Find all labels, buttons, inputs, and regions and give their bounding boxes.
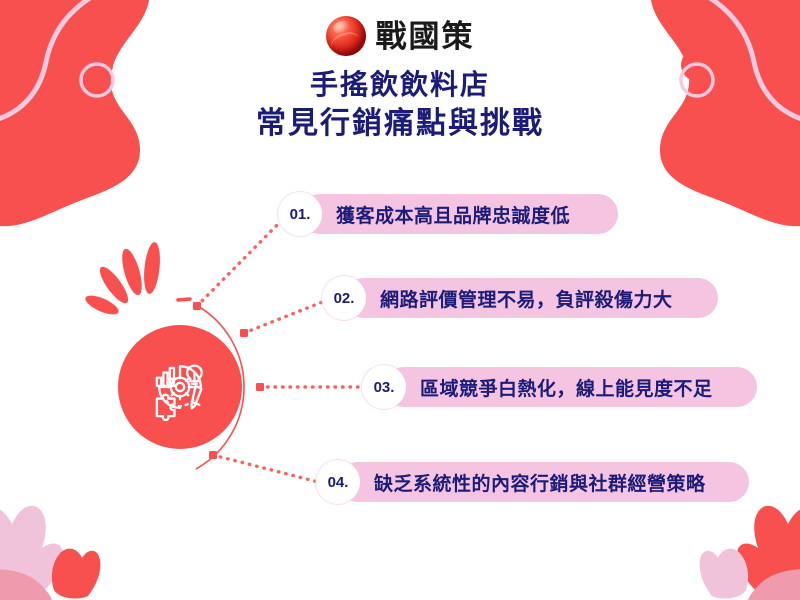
pain-point-row-2[interactable]: 02. 網路評價管理不易，負評殺傷力大 bbox=[322, 278, 673, 318]
petal-coral-large-r bbox=[737, 506, 800, 600]
item-number-badge-4: 04. bbox=[316, 460, 360, 504]
page-title: 手搖飲飲料店 常見行銷痛點與挑戰 bbox=[0, 66, 800, 144]
left-burst-dash bbox=[178, 299, 190, 300]
left-ray-burst bbox=[83, 241, 162, 318]
petal-rose-flat bbox=[0, 569, 52, 600]
connector-line-1 bbox=[197, 216, 286, 306]
connector-line-2 bbox=[244, 299, 330, 333]
item-number-badge-2: 02. bbox=[322, 276, 366, 320]
red-sphere-logo-icon bbox=[326, 16, 366, 56]
arc-node-2 bbox=[240, 329, 248, 337]
pain-point-row-1[interactable]: 01. 獲客成本高且品牌忠誠度低 bbox=[278, 194, 570, 234]
pain-point-row-3[interactable]: 03. 區域競爭白熱化，線上能見度不足 bbox=[362, 367, 713, 407]
brand-name: 戰國策 bbox=[376, 21, 475, 52]
marketing-strategy-icon bbox=[143, 350, 217, 424]
pain-point-text-4: 缺乏系統性的內容行銷與社群經營策略 bbox=[374, 469, 706, 496]
connector-line-4 bbox=[213, 455, 326, 484]
page-title-line-1: 手搖飲飲料店 bbox=[0, 66, 800, 104]
petal-rose-flat-r bbox=[748, 569, 800, 600]
header: 戰國策 手搖飲飲料店 常見行銷痛點與挑戰 bbox=[0, 12, 800, 144]
arc-node-1 bbox=[193, 302, 201, 310]
pain-point-text-1: 獲客成本高且品牌忠誠度低 bbox=[336, 201, 570, 228]
hub-circle bbox=[118, 325, 242, 449]
pain-point-text-2: 網路評價管理不易，負評殺傷力大 bbox=[380, 285, 673, 312]
petal-pink-small-r bbox=[700, 549, 748, 599]
pain-point-text-3: 區域競爭白熱化，線上能見度不足 bbox=[420, 374, 713, 401]
item-number-badge-3: 03. bbox=[362, 365, 406, 409]
infographic-canvas: 戰國策 手搖飲飲料店 常見行銷痛點與挑戰 bbox=[0, 0, 800, 600]
item-number-badge-1: 01. bbox=[278, 192, 322, 236]
page-title-line-2: 常見行銷痛點與挑戰 bbox=[0, 104, 800, 144]
petal-pink-large bbox=[0, 506, 63, 600]
bottom-right-petal-cluster bbox=[700, 506, 800, 600]
brand-logo: 戰國策 bbox=[0, 12, 800, 60]
bottom-left-petal-cluster bbox=[0, 506, 100, 600]
arc-node-3 bbox=[256, 383, 264, 391]
petal-coral-small bbox=[52, 549, 100, 599]
arc-node-4 bbox=[209, 451, 217, 459]
pain-point-row-4[interactable]: 04. 缺乏系統性的內容行銷與社群經營策略 bbox=[316, 462, 706, 502]
